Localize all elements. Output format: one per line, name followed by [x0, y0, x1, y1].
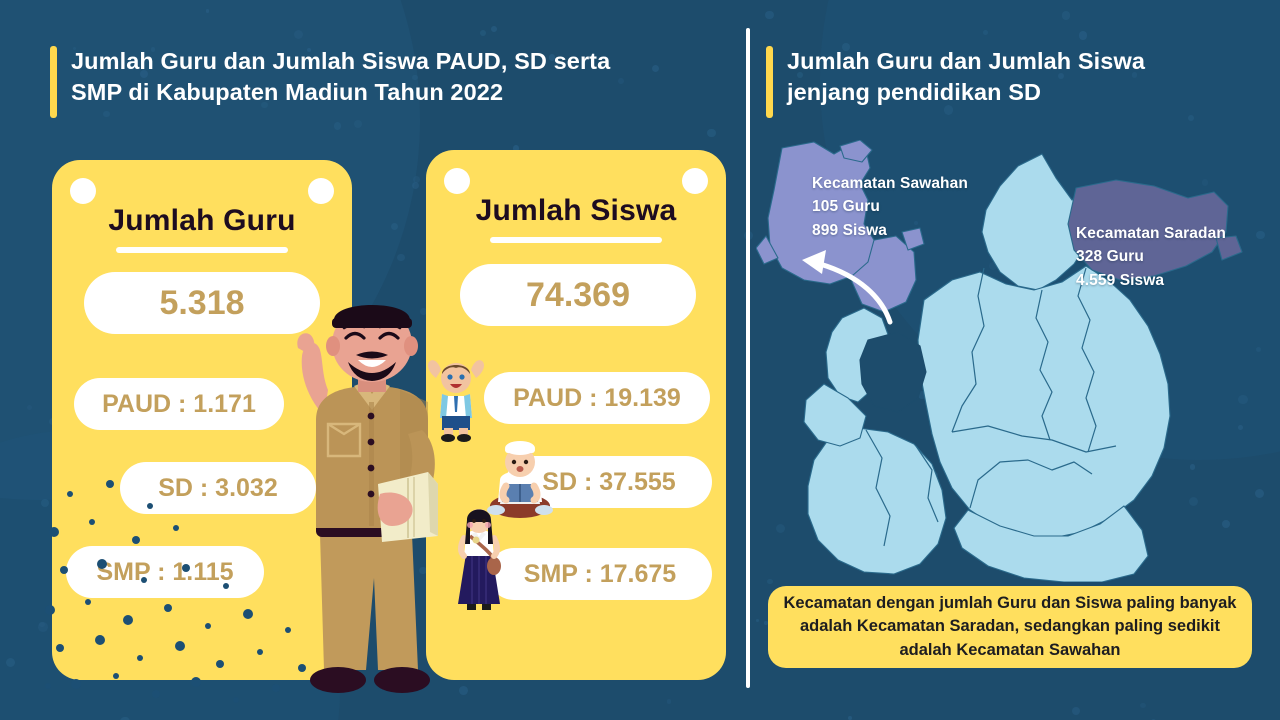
card-punch-hole-left-icon — [70, 178, 96, 204]
student-smp-illustration — [448, 508, 510, 612]
map-caption-text: Kecamatan dengan jumlah Guru dan Siswa p… — [782, 592, 1238, 662]
decor-dot — [354, 120, 362, 128]
decor-dot — [667, 699, 672, 704]
card-underline-siswa — [490, 237, 662, 243]
dot-pattern-decoration — [40, 470, 330, 720]
card-underline-guru — [116, 247, 288, 253]
panel-divider — [746, 28, 750, 688]
decor-dot — [391, 223, 398, 230]
card-heading-siswa: Jumlah Siswa — [426, 194, 726, 228]
left-panel-title-text: Jumlah Guru dan Jumlah Siswa PAUD, SD se… — [71, 46, 610, 109]
card-punch-hole-left-icon — [444, 168, 470, 194]
decor-dot — [413, 176, 420, 183]
map-region-central — [918, 266, 1170, 538]
decor-dot — [6, 658, 15, 667]
decor-dot — [765, 11, 773, 19]
card-heading-guru: Jumlah Guru — [52, 204, 352, 238]
title-accent-bar-right — [766, 46, 773, 118]
decor-dot — [397, 254, 404, 261]
map-caption-box: Kecamatan dengan jumlah Guru dan Siswa p… — [768, 586, 1252, 668]
decor-dot — [1062, 11, 1071, 20]
map-label-sawahan: Kecamatan Sawahan 105 Guru 899 Siswa — [812, 172, 968, 242]
decor-dot — [756, 619, 759, 622]
siswa-total-value: 74.369 — [460, 264, 696, 326]
decor-dot — [707, 129, 716, 138]
guru-row-paud: PAUD : 1.171 — [74, 378, 284, 430]
title-accent-bar-left — [50, 46, 57, 118]
right-panel-title: Jumlah Guru dan Jumlah Siswa jenjang pen… — [766, 46, 1236, 118]
siswa-row-smp: SMP : 17.675 — [488, 548, 712, 600]
right-panel-title-text: Jumlah Guru dan Jumlah Siswa jenjang pen… — [787, 46, 1145, 109]
decor-dot — [1072, 707, 1080, 715]
decor-dot — [334, 122, 341, 129]
map-region-enclave-dark — [860, 332, 926, 412]
card-punch-hole-right-icon — [682, 168, 708, 194]
decor-dot — [848, 716, 852, 720]
decor-dot — [1140, 703, 1146, 709]
card-punch-hole-right-icon — [308, 178, 334, 204]
decor-dot — [491, 26, 497, 32]
siswa-row-paud: PAUD : 19.139 — [484, 372, 710, 424]
decor-dot — [480, 30, 486, 36]
left-panel-title: Jumlah Guru dan Jumlah Siswa PAUD, SD se… — [50, 46, 710, 118]
student-paud-illustration — [424, 356, 488, 442]
decor-dot — [412, 182, 419, 189]
map-label-saradan: Kecamatan Saradan 328 Guru 4.559 Siswa — [1076, 222, 1226, 292]
